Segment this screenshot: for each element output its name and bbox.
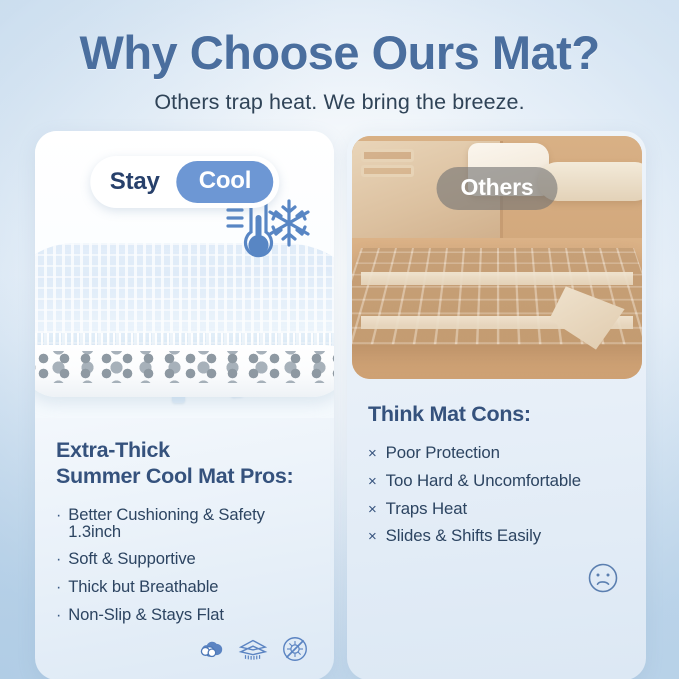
page-subtitle: Others trap heat. We bring the breeze. <box>0 90 679 115</box>
list-item: × Poor Protection <box>368 440 626 468</box>
breathable-layers-icon <box>238 634 268 664</box>
thermometer-mercury <box>256 215 262 241</box>
comparison-cards: Stay Cool <box>0 115 679 679</box>
bullet-icon: · <box>56 552 61 568</box>
snowflake-icon <box>270 201 308 245</box>
list-item: · Soft & Supportive <box>56 546 314 574</box>
page-title: Why Choose Ours Mat? <box>0 28 679 79</box>
cons-card: Others Think Mat Cons: × Poor Protection… <box>347 131 646 679</box>
pros-heading: Extra-Thick Summer Cool Mat Pros: <box>56 437 314 489</box>
cloud-soft-icon <box>196 634 226 664</box>
cross-icon: × <box>368 474 377 489</box>
photo-mat-stripe <box>361 272 634 285</box>
feature-icons <box>56 634 314 664</box>
stay-cool-badge: Stay Cool <box>90 156 279 208</box>
others-badge: Others <box>437 167 558 210</box>
cross-icon: × <box>368 529 377 544</box>
list-item: · Better Cushioning & Safety 1.3inch <box>56 502 314 546</box>
photo-headboard-shelf <box>361 149 414 162</box>
list-item-label: Poor Protection <box>386 445 500 462</box>
product-comparison-poster: Why Choose Ours Mat? Others trap heat. W… <box>0 0 679 679</box>
cons-heading: Think Mat Cons: <box>368 401 626 427</box>
cons-body: Think Mat Cons: × Poor Protection × Too … <box>347 379 646 611</box>
poster-header: Why Choose Ours Mat? Others trap heat. W… <box>0 0 679 115</box>
others-mat-photo: Others <box>352 136 642 379</box>
list-item: × Slides & Shifts Easily <box>368 523 626 551</box>
list-item-label: Traps Heat <box>386 501 467 518</box>
cons-list: × Poor Protection × Too Hard & Uncomfort… <box>368 440 626 551</box>
list-item: · Thick but Breathable <box>56 574 314 602</box>
list-item: × Too Hard & Uncomfortable <box>368 468 626 496</box>
badge-word-stay: Stay <box>110 168 177 196</box>
list-item-label: Thick but Breathable <box>68 579 218 596</box>
list-item-label: Soft & Supportive <box>68 551 195 568</box>
list-item-label: Non-Slip & Stays Flat <box>68 607 224 624</box>
mattress-foam-base <box>35 345 334 397</box>
status-icon-wrap <box>368 561 626 595</box>
list-item: × Traps Heat <box>368 496 626 524</box>
photo-headboard-shelf <box>361 165 414 177</box>
anti-bacterial-icon <box>280 634 310 664</box>
bullet-icon: · <box>56 508 61 524</box>
list-item-label: Slides & Shifts Easily <box>386 528 541 545</box>
pros-list: · Better Cushioning & Safety 1.3inch · S… <box>56 502 314 630</box>
badge-word-cool: Cool <box>177 161 274 203</box>
bullet-icon: · <box>56 608 61 624</box>
cool-mat-illustration: Stay Cool <box>35 131 334 418</box>
list-item: · Non-Slip & Stays Flat <box>56 602 314 630</box>
cross-icon: × <box>368 502 377 517</box>
cross-icon: × <box>368 446 377 461</box>
list-item-label: Better Cushioning & Safety 1.3inch <box>68 507 314 540</box>
bullet-icon: · <box>56 580 61 596</box>
pros-card: Stay Cool <box>35 131 334 679</box>
pros-body: Extra-Thick Summer Cool Mat Pros: · Bett… <box>35 418 334 679</box>
list-item-label: Too Hard & Uncomfortable <box>386 473 581 490</box>
sad-face-icon <box>586 561 620 595</box>
